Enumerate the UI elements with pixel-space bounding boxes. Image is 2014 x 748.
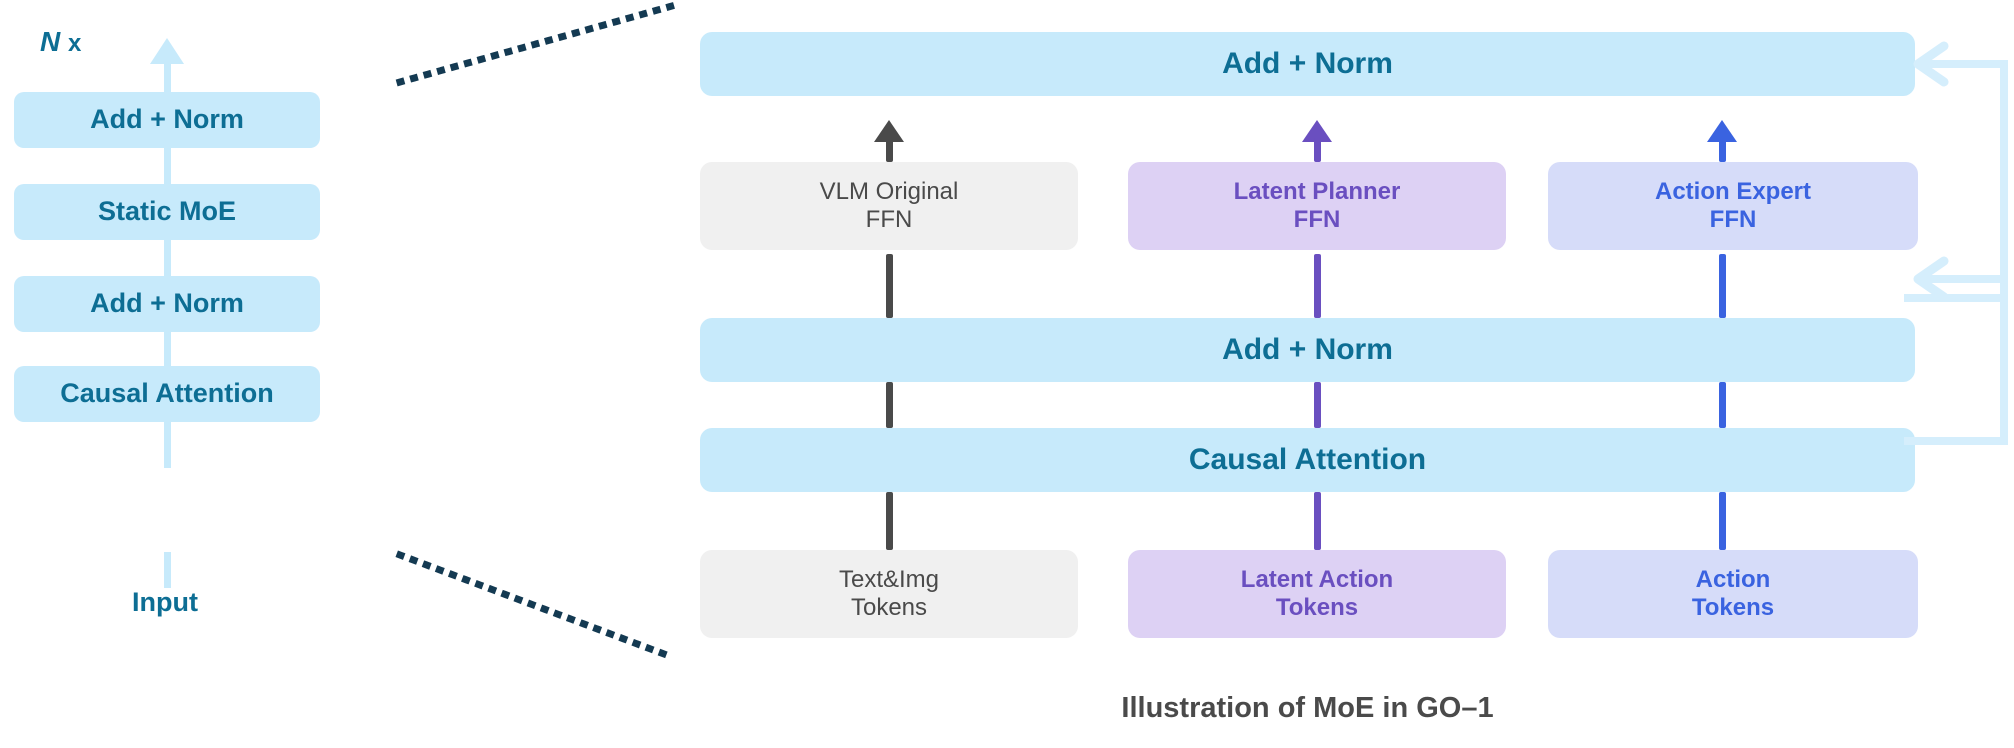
left-spine-segment-1	[164, 146, 171, 188]
left-spine-segment-bottom	[164, 420, 171, 468]
token-box-action[interactable]: Action Tokens	[1548, 550, 1918, 638]
right-causal-attention-bar[interactable]: Causal Attention	[700, 428, 1915, 492]
dotted-connector-bottom	[390, 545, 680, 665]
figure-caption: Illustration of MoE in GO–1	[700, 692, 1915, 725]
right-add-norm-top-bar[interactable]: Add + Norm	[700, 32, 1915, 96]
stub-tokens-to-attn-latent	[1314, 492, 1321, 550]
token-box-latent-action[interactable]: Latent Action Tokens	[1128, 550, 1506, 638]
repeat-count-n: N	[40, 26, 60, 57]
left-output-arrow-icon	[150, 38, 184, 64]
dotted-connector-top	[390, 0, 680, 90]
left-block-causal-attention[interactable]: Causal Attention	[14, 366, 320, 422]
stub-attn-to-addnorm-vlm	[886, 382, 893, 428]
left-block-add-norm-bottom[interactable]: Add + Norm	[14, 276, 320, 332]
ffn-box-action-expert[interactable]: Action Expert FFN	[1548, 162, 1918, 250]
stub-addnorm-to-vlm	[886, 254, 893, 318]
left-spine-segment-3	[164, 330, 171, 370]
left-block-add-norm-top[interactable]: Add + Norm	[14, 92, 320, 148]
stub-attn-to-addnorm-action	[1719, 382, 1726, 428]
left-spine-segment-input	[164, 552, 171, 588]
left-spine-segment-top	[164, 62, 171, 96]
ffn-box-vlm-original[interactable]: VLM Original FFN	[700, 162, 1078, 250]
left-spine-segment-2	[164, 238, 171, 280]
input-label: Input	[70, 587, 260, 618]
stub-planner-to-addnorm	[1314, 138, 1321, 162]
stub-addnorm-to-action	[1719, 254, 1726, 318]
right-add-norm-mid-bar[interactable]: Add + Norm	[700, 318, 1915, 382]
stub-vlm-to-addnorm	[886, 138, 893, 162]
left-block-static-moe[interactable]: Static MoE	[14, 184, 320, 240]
stub-addnorm-to-planner	[1314, 254, 1321, 318]
repeat-count-label: N x	[40, 26, 81, 58]
token-box-text-img[interactable]: Text&Img Tokens	[700, 550, 1078, 638]
diagram-canvas: N x Add + Norm Static MoE Add + Norm Cau…	[0, 0, 2014, 748]
stub-attn-to-addnorm-planner	[1314, 382, 1321, 428]
stub-tokens-to-attn-text	[886, 492, 893, 550]
ffn-box-latent-planner[interactable]: Latent Planner FFN	[1128, 162, 1506, 250]
residual-loop-lower	[1900, 255, 2014, 455]
repeat-count-x: x	[68, 30, 81, 57]
stub-action-to-addnorm	[1719, 138, 1726, 162]
stub-tokens-to-attn-action	[1719, 492, 1726, 550]
